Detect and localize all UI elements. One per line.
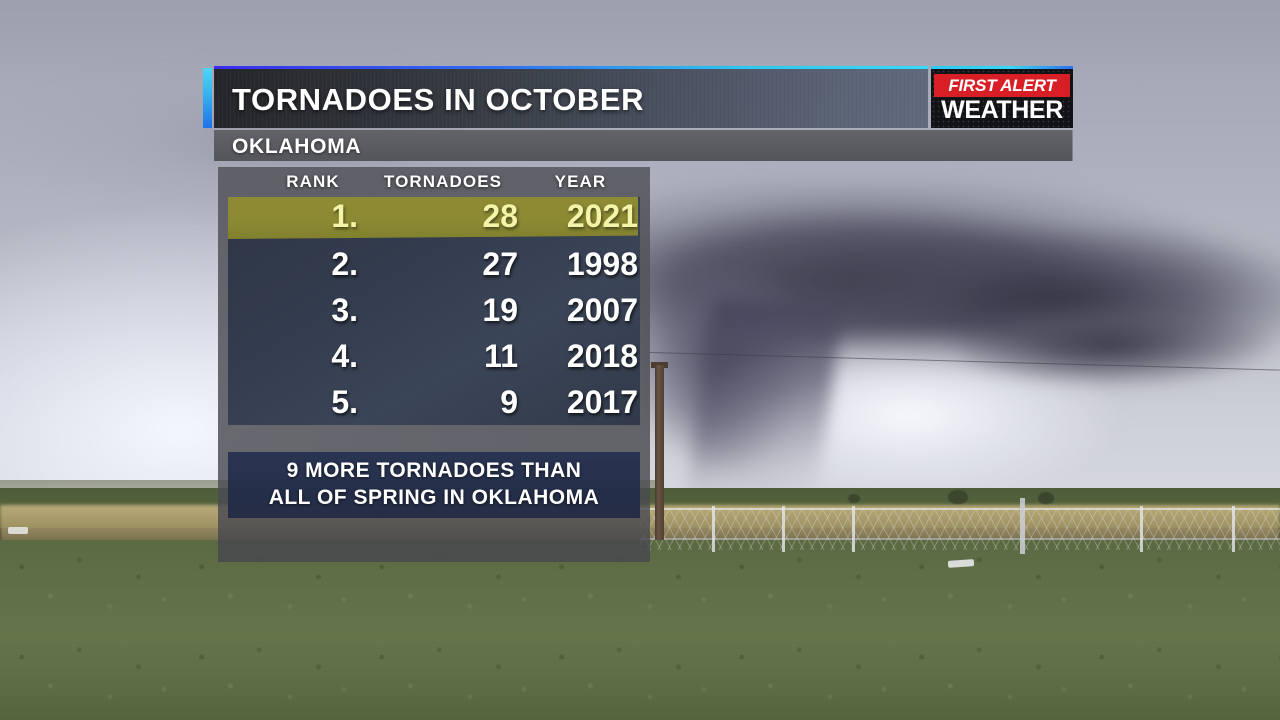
table-row: 4. 11 2018 — [228, 335, 640, 381]
column-header-year: YEAR — [528, 172, 633, 192]
first-alert-weather-logo: FIRST ALERT WEATHER — [931, 66, 1073, 128]
fence-bottom-rail — [640, 538, 1280, 540]
footer-line-1: 9 MORE TORNADOES THAN — [287, 458, 582, 485]
column-header-rank: RANK — [268, 172, 358, 192]
title-bar: TORNADOES IN OCTOBER — [214, 66, 928, 128]
cell-rank: 5. — [248, 384, 358, 421]
subtitle-label: OKLAHOMA — [232, 135, 361, 159]
fence-post — [1140, 506, 1143, 552]
cell-year: 2007 — [518, 292, 638, 329]
cell-rank: 4. — [248, 338, 358, 375]
cell-tornadoes: 28 — [368, 198, 518, 235]
fence-post-tall — [1020, 498, 1025, 554]
column-header-tornadoes: TORNADOES — [368, 172, 518, 192]
cell-year: 1998 — [518, 246, 638, 283]
footer-caption: 9 MORE TORNADOES THAN ALL OF SPRING IN O… — [228, 452, 640, 518]
cell-tornadoes: 19 — [368, 292, 518, 329]
logo-first-alert-banner: FIRST ALERT — [934, 74, 1070, 97]
logo-weather-label: WEATHER — [941, 96, 1063, 125]
page-title: TORNADOES IN OCTOBER — [232, 82, 644, 118]
ground-debris — [8, 527, 28, 534]
fence-post — [852, 506, 855, 552]
table-header-row: RANK TORNADOES YEAR — [228, 172, 640, 197]
fence-top-rail — [640, 508, 1280, 510]
logo-first-alert-label: FIRST ALERT — [948, 76, 1055, 96]
distant-tree — [1038, 492, 1054, 504]
fence-mesh — [640, 508, 1280, 550]
cell-rank: 1. — [248, 198, 358, 235]
footer-line-2: ALL OF SPRING IN OKLAHOMA — [269, 485, 600, 512]
fence-post — [782, 506, 785, 552]
cell-rank: 2. — [248, 246, 358, 283]
utility-pole — [655, 365, 664, 540]
broadcast-screen: TORNADOES IN OCTOBER FIRST ALERT WEATHER… — [0, 0, 1280, 720]
cell-tornadoes: 9 — [368, 384, 518, 421]
table-row: 3. 19 2007 — [228, 289, 640, 335]
table-row-highlighted: 1. 28 2021 — [228, 197, 638, 239]
cell-year: 2021 — [518, 198, 638, 235]
cell-year: 2017 — [518, 384, 638, 421]
shelf-cloud — [960, 300, 1280, 390]
logo-weather-banner: WEATHER — [931, 95, 1073, 125]
table-row: 5. 9 2017 — [228, 381, 640, 425]
cell-tornadoes: 11 — [368, 338, 518, 375]
field-texture — [0, 540, 1280, 720]
fence-post — [1232, 506, 1235, 552]
cell-rank: 3. — [248, 292, 358, 329]
fence-post — [712, 506, 715, 552]
accent-bar — [203, 68, 212, 128]
cell-year: 2018 — [518, 338, 638, 375]
distant-tree — [848, 494, 860, 503]
distant-tree — [948, 490, 968, 504]
table-row: 2. 27 1998 — [228, 243, 640, 289]
subtitle-bar: OKLAHOMA — [214, 130, 1073, 161]
cell-tornadoes: 27 — [368, 246, 518, 283]
